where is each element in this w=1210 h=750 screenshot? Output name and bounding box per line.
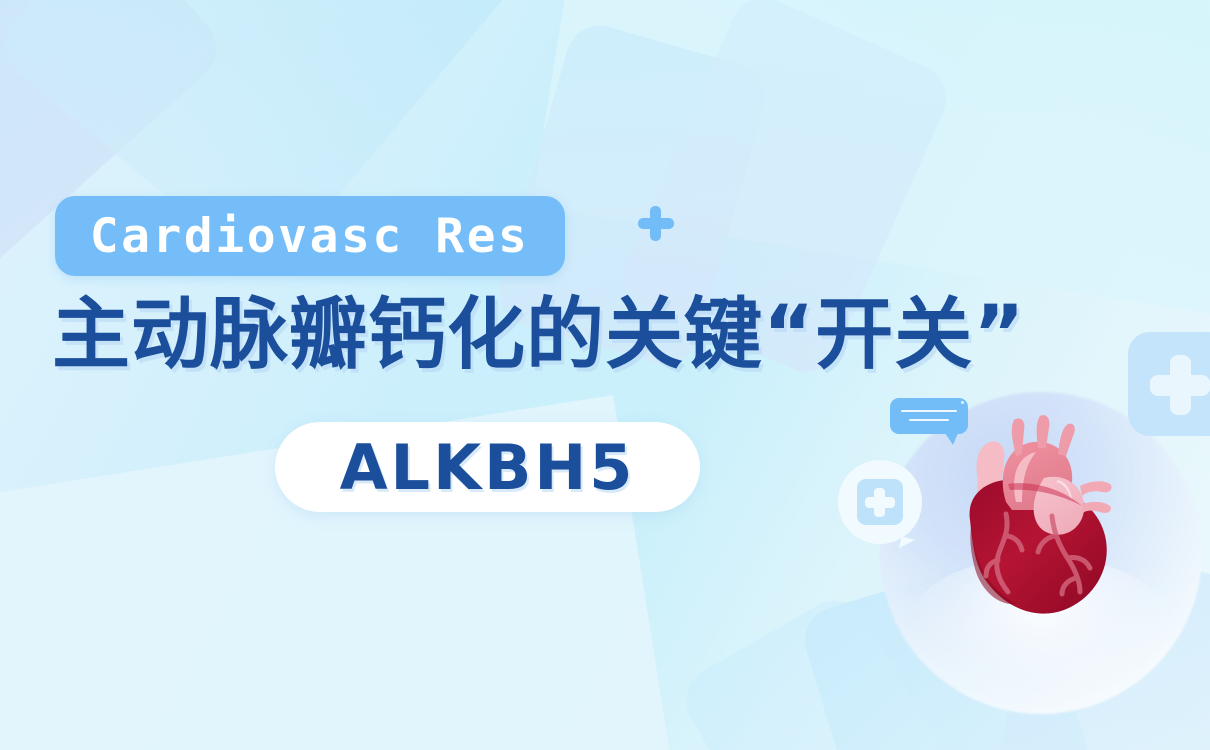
poster-canvas: Cardiovasc Res 主动脉瓣钙化的关键“开关” ALKBH5: [0, 0, 1210, 750]
anatomical-heart-illustration: [948, 410, 1138, 625]
journal-badge: Cardiovasc Res: [55, 196, 565, 276]
gene-name-label: ALKBH5: [340, 431, 636, 504]
medical-cross-bubble-icon: [838, 460, 922, 544]
page-title: 主动脉瓣钙化的关键“开关”: [52, 296, 1152, 374]
chat-bubble-icon: [890, 398, 968, 434]
background-card-shape: [674, 588, 982, 750]
plus-icon: [636, 203, 676, 243]
medical-cross-icon: [1150, 355, 1210, 415]
journal-badge-label: Cardiovasc Res: [90, 209, 530, 264]
gene-name-pill: ALKBH5: [275, 422, 700, 512]
